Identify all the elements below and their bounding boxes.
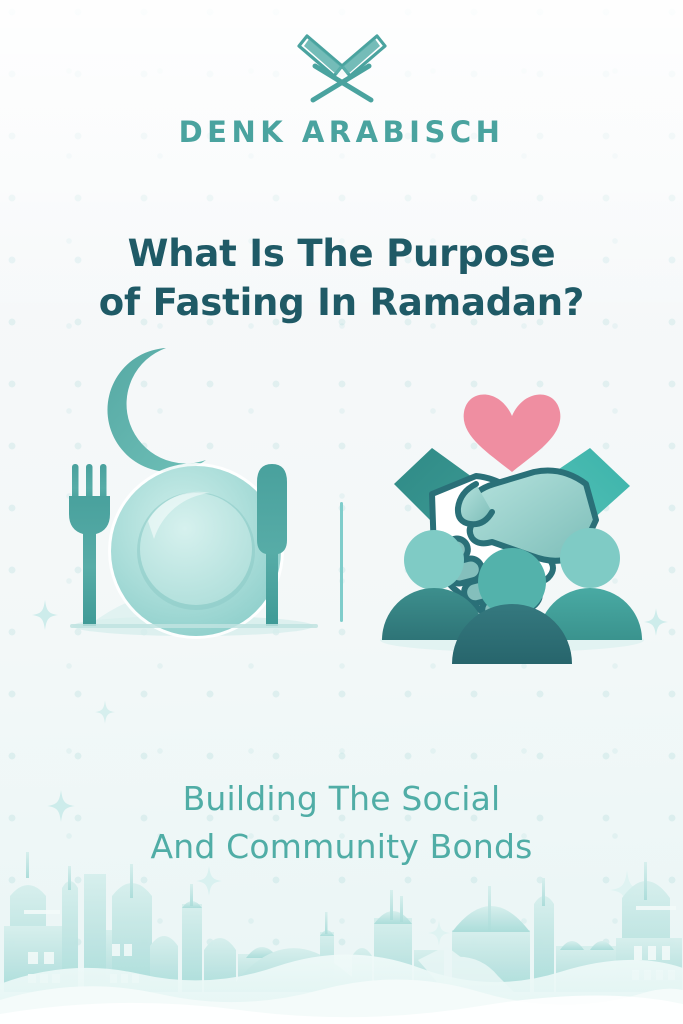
page-title: What Is The Purpose of Fasting In Ramada… <box>40 229 643 328</box>
fork-shape <box>69 464 110 626</box>
headline-line-1: What Is The Purpose <box>128 232 556 275</box>
subtitle-line-1: Building The Social <box>183 779 501 818</box>
headline-line-2: of Fasting In Ramadan? <box>40 278 643 328</box>
heart-shape <box>464 394 561 472</box>
sparkle-icon <box>95 700 115 724</box>
page-subtitle: Building The Social And Community Bonds <box>40 775 643 871</box>
community-illustration <box>372 344 652 664</box>
brand-logo: DENK ARABISCH <box>0 26 683 147</box>
crescent-moon-shape <box>107 348 206 472</box>
subtitle-line-2: And Community Bonds <box>40 823 643 871</box>
sparkle-icon <box>428 920 450 946</box>
illustration-row <box>0 336 683 676</box>
sparkle-icon <box>610 870 644 910</box>
vertical-divider <box>340 502 343 622</box>
iftar-meal-illustration <box>48 336 333 666</box>
brand-name: DENK ARABISCH <box>0 118 683 147</box>
quran-on-rehal-icon <box>287 26 397 106</box>
poster-canvas: DENK ARABISCH What Is The Purpose of Fas… <box>0 0 683 1024</box>
